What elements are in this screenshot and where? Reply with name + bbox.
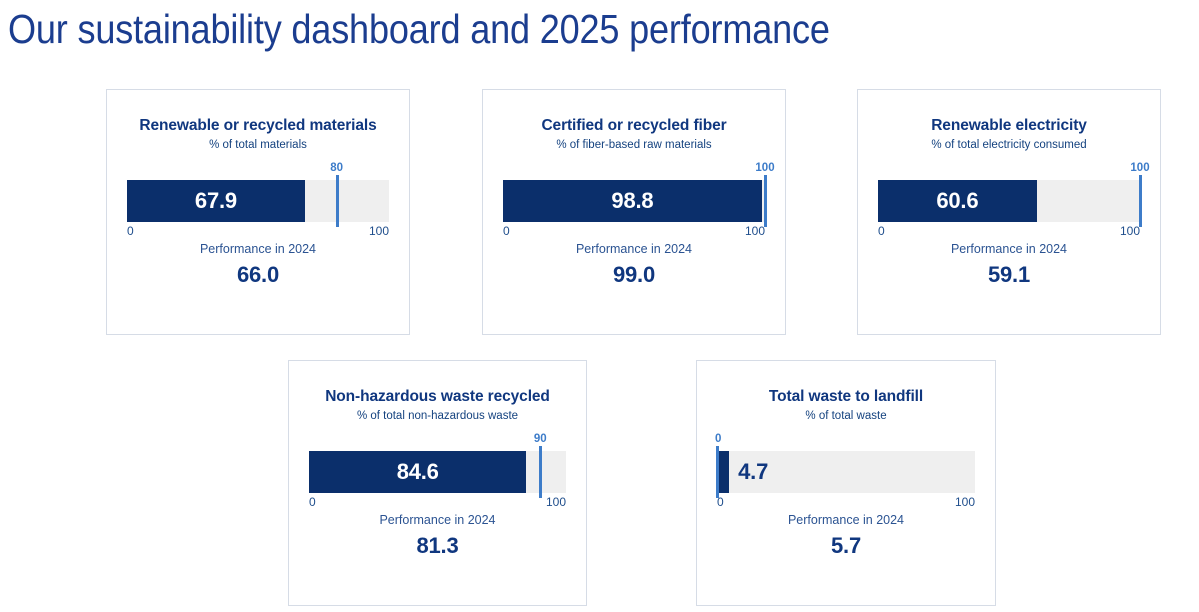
- scale-min-label: 0: [309, 495, 316, 509]
- card-inner: Renewable electricity % of total electri…: [858, 90, 1160, 334]
- bar-scale: 0 100: [127, 224, 389, 240]
- bar-track: 60.6: [878, 180, 1140, 222]
- bar-value-label: 98.8: [503, 180, 762, 222]
- bar-value-label: 4.7: [738, 451, 768, 493]
- card-inner: Renewable or recycled materials % of tot…: [107, 90, 409, 334]
- prior-year-label: Performance in 2024: [697, 513, 995, 527]
- card-title: Renewable electricity: [858, 117, 1160, 135]
- bar-scale: 0 100: [309, 495, 566, 511]
- kpi-card-grid: Renewable or recycled materials % of tot…: [0, 0, 1199, 612]
- card-title: Renewable or recycled materials: [107, 117, 409, 135]
- scale-max-label: 100: [745, 224, 765, 238]
- prior-year-value: 59.1: [858, 262, 1160, 288]
- prior-year-label: Performance in 2024: [289, 513, 586, 527]
- card-subtitle: % of total waste: [697, 410, 995, 422]
- target-label: 100: [755, 162, 774, 174]
- kpi-card-total-waste-to-landfill[interactable]: Total waste to landfill % of total waste…: [696, 360, 996, 606]
- scale-min-label: 0: [127, 224, 134, 238]
- bullet-bar: 0 4.7 0 100: [717, 433, 975, 511]
- card-inner: Certified or recycled fiber % of fiber-b…: [483, 90, 785, 334]
- bullet-bar: 100 60.6 0 100: [878, 162, 1140, 240]
- bullet-bar: 80 67.9 0 100: [127, 162, 389, 240]
- scale-max-label: 100: [369, 224, 389, 238]
- scale-min-label: 0: [878, 224, 885, 238]
- bullet-bar: 100 98.8 0 100: [503, 162, 765, 240]
- target-marker-icon: [716, 446, 719, 498]
- bar-scale: 0 100: [717, 495, 975, 511]
- prior-year-value: 66.0: [107, 262, 409, 288]
- target-label: 80: [330, 162, 343, 174]
- prior-year-label: Performance in 2024: [107, 242, 409, 256]
- prior-year-value: 81.3: [289, 533, 586, 559]
- card-subtitle: % of total non-hazardous waste: [289, 410, 586, 422]
- prior-year-label: Performance in 2024: [858, 242, 1160, 256]
- scale-max-label: 100: [955, 495, 975, 509]
- target-marker-icon: [539, 446, 542, 498]
- card-inner: Non-hazardous waste recycled % of total …: [289, 361, 586, 605]
- prior-year-value: 99.0: [483, 262, 785, 288]
- target-marker-icon: [1139, 175, 1142, 227]
- card-title: Total waste to landfill: [697, 388, 995, 406]
- bar-track: 67.9: [127, 180, 389, 222]
- target-label: 90: [534, 433, 547, 445]
- prior-year-value: 5.7: [697, 533, 995, 559]
- kpi-card-renewable-electricity[interactable]: Renewable electricity % of total electri…: [857, 89, 1161, 335]
- target-label: 0: [715, 433, 721, 445]
- kpi-card-certified-or-recycled-fiber[interactable]: Certified or recycled fiber % of fiber-b…: [482, 89, 786, 335]
- kpi-card-renewable-or-recycled-materials[interactable]: Renewable or recycled materials % of tot…: [106, 89, 410, 335]
- card-title: Certified or recycled fiber: [483, 117, 785, 135]
- target-label: 100: [1130, 162, 1149, 174]
- scale-min-label: 0: [503, 224, 510, 238]
- card-subtitle: % of total materials: [107, 139, 409, 151]
- bar-value-label: 84.6: [309, 451, 526, 493]
- bar-track: 4.7: [717, 451, 975, 493]
- kpi-card-non-hazardous-waste-recycled[interactable]: Non-hazardous waste recycled % of total …: [288, 360, 587, 606]
- bar-scale: 0 100: [503, 224, 765, 240]
- target-marker-icon: [336, 175, 339, 227]
- scale-max-label: 100: [1120, 224, 1140, 238]
- bar-track: 84.6: [309, 451, 566, 493]
- bullet-bar: 90 84.6 0 100: [309, 433, 566, 511]
- bar-value-label: 67.9: [127, 180, 305, 222]
- card-subtitle: % of total electricity consumed: [858, 139, 1160, 151]
- card-title: Non-hazardous waste recycled: [289, 388, 586, 406]
- card-subtitle: % of fiber-based raw materials: [483, 139, 785, 151]
- card-inner: Total waste to landfill % of total waste…: [697, 361, 995, 605]
- scale-max-label: 100: [546, 495, 566, 509]
- bar-track: 98.8: [503, 180, 765, 222]
- bar-scale: 0 100: [878, 224, 1140, 240]
- prior-year-label: Performance in 2024: [483, 242, 785, 256]
- bar-value-label: 60.6: [878, 180, 1037, 222]
- scale-min-label: 0: [717, 495, 724, 509]
- target-marker-icon: [764, 175, 767, 227]
